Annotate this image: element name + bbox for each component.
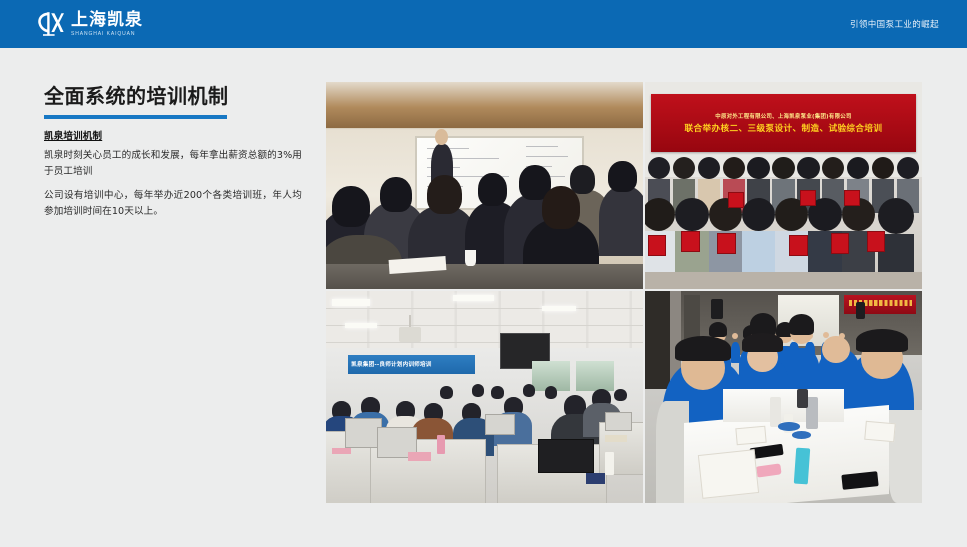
banner-line-1: 中原对外工程有限公司、上海凯泉泵业(集团)有限公司 <box>715 112 851 120</box>
page-header: 上海凯泉 SHANGHAI KAIQUAN 引领中国泵工业的崛起 <box>0 0 967 48</box>
body-text-column: 凯泉培训机制 凯泉时刻关心员工的成长和发展，每年拿出薪资总额的3%用于员工培训 … <box>44 128 302 228</box>
body-subheading: 凯泉培训机制 <box>44 128 302 142</box>
blue-uniform-workshop-photo <box>645 291 922 503</box>
logo-chinese-name: 上海凯泉 <box>71 12 143 29</box>
title-underline-rule <box>44 115 227 119</box>
body-paragraph-1: 凯泉时刻关心员工的成长和发展，每年拿出薪资总额的3%用于员工培训 <box>44 148 302 179</box>
body-paragraph-2: 公司设有培训中心，每年举办近200个各类培训班，年人均参加培训时间在10天以上。 <box>44 188 302 219</box>
title-block: 全面系统的培训机制 <box>44 84 294 119</box>
training-banner-red: 中原对外工程有限公司、上海凯泉泵业(集团)有限公司 联合举办核二、三级泵设计、制… <box>651 94 917 152</box>
lecture-hall-training-photo <box>326 82 643 289</box>
slide-root: 上海凯泉 SHANGHAI KAIQUAN 引领中国泵工业的崛起 全面系统的培训… <box>0 0 967 547</box>
photo-grid: 中原对外工程有限公司、上海凯泉泵业(集团)有限公司 联合举办核二、三级泵设计、制… <box>326 82 922 503</box>
blue-banner-text: 凯泉集团--良师计划内训师培训 <box>351 360 431 368</box>
training-banner-blue: 凯泉集团--良师计划内训师培训 <box>348 355 475 374</box>
logo-english-name: SHANGHAI KAIQUAN <box>71 32 143 37</box>
internal-trainer-classroom-photo: 凯泉集团--良师计划内训师培训 <box>326 291 643 503</box>
nuclear-pump-training-group-photo: 中原对外工程有限公司、上海凯泉泵业(集团)有限公司 联合举办核二、三级泵设计、制… <box>645 82 922 289</box>
company-logo[interactable]: 上海凯泉 SHANGHAI KAIQUAN <box>34 9 143 39</box>
header-slogan: 引领中国泵工业的崛起 <box>850 18 939 30</box>
kaiquan-k-monogram-icon <box>34 9 64 39</box>
page-title: 全面系统的培训机制 <box>44 84 294 108</box>
banner-line-2: 联合举办核二、三级泵设计、制造、试验综合培训 <box>685 122 883 134</box>
